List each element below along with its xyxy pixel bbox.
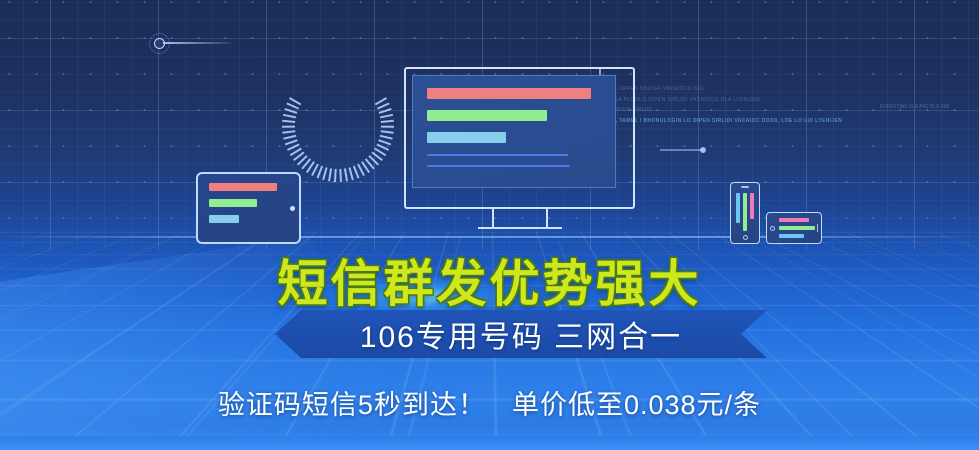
decorative-text-line: LO DIPEN SIRLIDI [604, 107, 924, 113]
floor-horizon-line [0, 236, 979, 238]
smartphone-landscape-icon [766, 212, 822, 244]
monitor-text-line [427, 165, 570, 167]
tagline-right: 单价低至0.038元/条 [512, 390, 761, 420]
decorative-text-line: SND, TAMEL I BHONULOGIN LO DIPEN SIRLIDI… [604, 118, 924, 124]
dial-tick [380, 114, 393, 119]
promo-banner: IN ALORPEN SOLORI VACAIOCO SUL ANSLA PLO… [0, 0, 979, 450]
phone-bar [779, 226, 815, 230]
tagline-left: 验证码短信5秒到达！ [218, 390, 486, 420]
dial-tick [381, 120, 394, 123]
decorative-text-line: ANSLA PLORLO DIPEN SIRLIDI VACAIOCO OLA … [604, 97, 924, 103]
monitor-bar [427, 88, 591, 99]
radial-dial-icon [282, 14, 394, 126]
dial-tick [282, 126, 295, 128]
node-connector-line [163, 42, 231, 44]
phone-portrait-chart [736, 193, 756, 233]
monitor-stand-base [478, 227, 562, 229]
phone-speaker-icon [817, 224, 819, 232]
tablet-home-button-icon [290, 206, 295, 211]
monitor-bar [427, 110, 547, 121]
decorative-slider-icon [660, 149, 704, 151]
bottom-accent-strip [0, 436, 979, 450]
dial-tick [283, 114, 296, 119]
smartphone-portrait-icon [730, 182, 760, 244]
tagline: 验证码短信5秒到达！单价低至0.038元/条 [0, 383, 979, 422]
dial-tick [381, 126, 394, 128]
phone-bar [779, 234, 804, 238]
phone-bar [779, 218, 809, 222]
page-title: 短信群发优势强大 [0, 244, 979, 316]
phone-bar [743, 193, 747, 231]
tablet-icon [196, 172, 301, 244]
decorative-text-line: IN ALORPEN SOLORI VACAIOCO SUL [604, 86, 924, 92]
tablet-bar [209, 183, 277, 191]
dial-tick [379, 108, 392, 114]
monitor-text-line [427, 154, 568, 156]
node-dot-icon [154, 38, 165, 49]
dial-tick [282, 120, 295, 123]
decorative-right-label: EVERYONE IS A BIG OLA SIM [880, 104, 949, 110]
phone-bar [750, 193, 754, 219]
phone-bar [736, 193, 740, 223]
monitor-bar [427, 132, 506, 143]
phone-home-button-icon [770, 226, 775, 231]
phone-speaker-icon [741, 186, 749, 188]
phone-home-button-icon [743, 235, 748, 240]
monitor-screen [412, 75, 616, 188]
dial-tick [284, 108, 297, 114]
tablet-bar [209, 199, 257, 207]
decorative-text-block: IN ALORPEN SOLORI VACAIOCO SUL ANSLA PLO… [604, 86, 924, 128]
ribbon-label: 106专用号码 三网合一 [275, 310, 767, 358]
monitor-stand-neck [492, 209, 548, 229]
tablet-bar [209, 215, 239, 223]
